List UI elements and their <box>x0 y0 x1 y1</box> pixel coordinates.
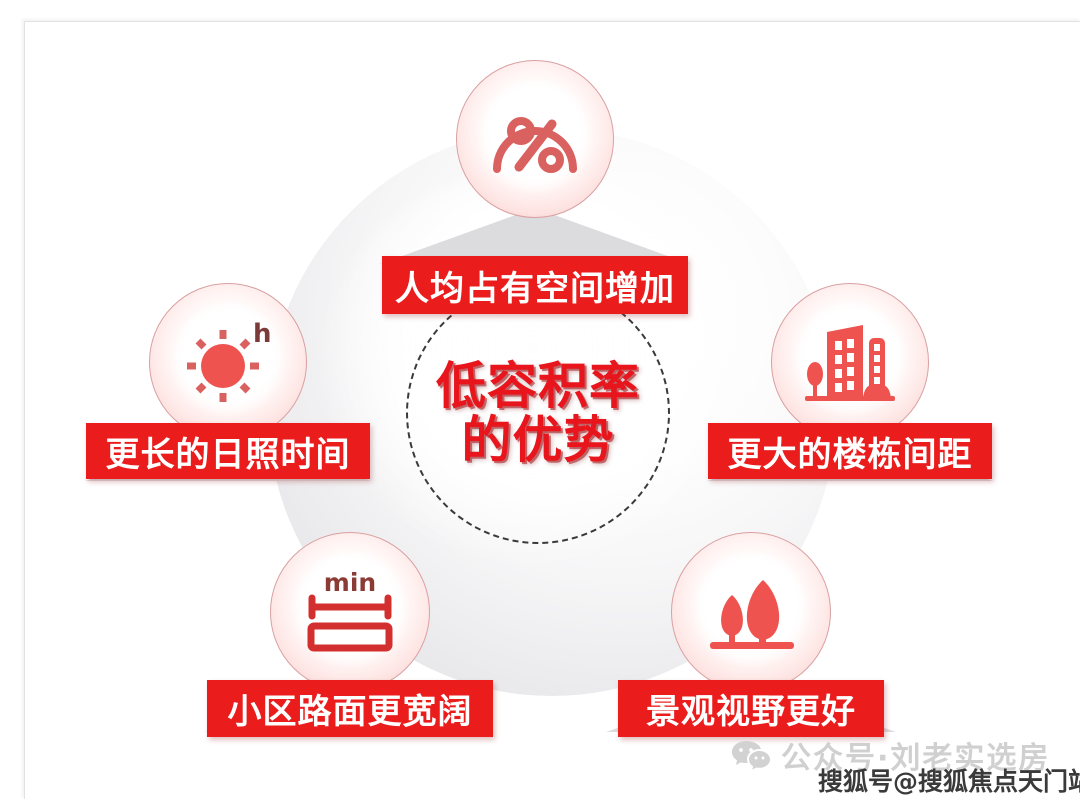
banner-right-label: 更大的楼栋间距 <box>728 427 973 476</box>
road-width-unit: min <box>324 568 376 597</box>
banner-top-label: 人均占有空间增加 <box>395 261 675 310</box>
percent-gauge-icon <box>485 93 585 185</box>
banner-bottom-left-label: 小区路面更宽阔 <box>228 684 473 733</box>
wechat-icon <box>731 739 771 771</box>
banner-left-label: 更长的日照时间 <box>106 427 351 476</box>
icon-bubble-left: h <box>149 283 307 441</box>
banner-bottom-left[interactable]: 小区路面更宽阔 <box>207 680 493 737</box>
sun-hours-icon: h <box>177 314 279 410</box>
banner-bottom-right-label: 景观视野更好 <box>646 684 856 733</box>
banner-right[interactable]: 更大的楼栋间距 <box>708 423 992 479</box>
sun-hours-unit: h <box>253 319 272 349</box>
icon-bubble-bottom-right <box>671 532 831 692</box>
center-dashed-ring <box>406 282 670 544</box>
sohu-watermark-text: 搜狐号@搜狐焦点天门站 <box>818 767 1080 796</box>
icon-bubble-right <box>771 283 929 441</box>
banner-bottom-right[interactable]: 景观视野更好 <box>618 680 884 737</box>
banner-top[interactable]: 人均占有空间增加 <box>382 256 688 314</box>
infographic-canvas: 低容积率 的优势 人均占有空间增加 <box>0 0 1080 799</box>
icon-bubble-bottom-left: min <box>270 532 430 692</box>
icon-bubble-top <box>456 60 614 218</box>
buildings-icon <box>799 314 901 410</box>
road-width-icon: min <box>298 564 402 660</box>
sohu-watermark: 搜狐号@搜狐焦点天门站 <box>818 762 1080 798</box>
banner-left[interactable]: 更长的日照时间 <box>86 423 370 479</box>
trees-icon <box>700 564 802 660</box>
